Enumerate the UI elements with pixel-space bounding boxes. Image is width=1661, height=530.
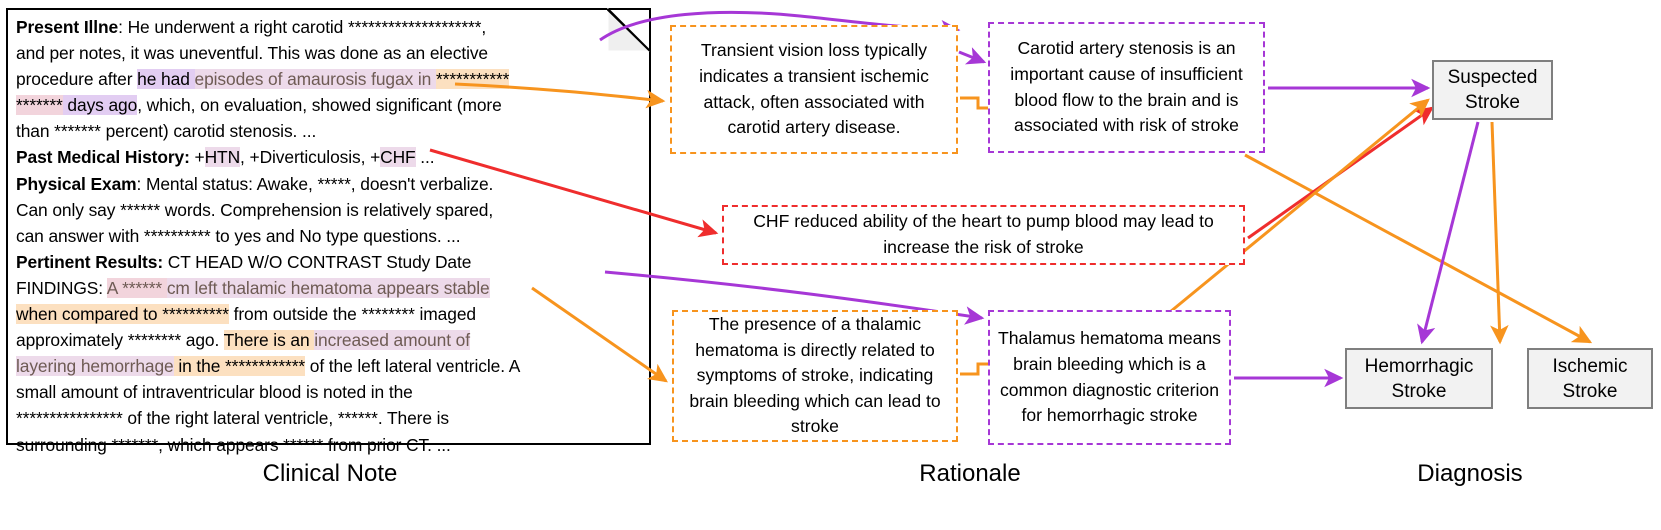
note-highlight-span: layering hemorrhage xyxy=(16,356,174,376)
rationale-text: CHF reduced ability of the heart to pump… xyxy=(732,209,1235,260)
rationale-text: Carotid artery stenosis is an important … xyxy=(998,36,1255,138)
note-text-span: CT HEAD W/O CONTRAST Study Date xyxy=(163,252,471,272)
clinical-note-line: when compared to ********** from outside… xyxy=(16,301,642,327)
arrow-suspected-to-ischemic xyxy=(1492,122,1500,342)
clinical-note-line: Present Illne: He underwent a right caro… xyxy=(16,14,642,40)
clinical-note-line: ******* days ago, which, on evaluation, … xyxy=(16,92,642,118)
note-text-span: surrounding *******, which appears *****… xyxy=(16,435,451,455)
rationale-text: Transient vision loss typically indicate… xyxy=(680,38,948,140)
arrow-chf-to-suspected xyxy=(1248,108,1432,238)
note-text-span: FINDINGS: xyxy=(16,278,107,298)
note-text-span: **************** of the right lateral ve… xyxy=(16,408,449,428)
note-highlight-span: in the ************ xyxy=(174,356,305,376)
clinical-note-line: Pertinent Results: CT HEAD W/O CONTRAST … xyxy=(16,249,642,275)
note-highlight-span: cm left thalamic hematoma appears stable xyxy=(167,278,490,298)
page-fold-icon xyxy=(607,8,651,52)
clinical-note-line: FINDINGS: A ****** cm left thalamic hema… xyxy=(16,275,642,301)
note-highlight-span: increased amount of xyxy=(314,330,470,350)
arrow-thalamic-to-thalamus xyxy=(960,364,988,374)
note-highlight-span: CHF xyxy=(380,147,415,167)
clinical-note-line: **************** of the right lateral ve… xyxy=(16,405,642,431)
rationale-text: Thalamus hematoma means brain bleeding w… xyxy=(998,326,1221,428)
note-text-span: : Mental status: Awake, *****, doesn't v… xyxy=(137,174,494,194)
note-highlight-span: *********** xyxy=(436,69,509,89)
clinical-note-card: Present Illne: He underwent a right caro… xyxy=(6,8,651,445)
diagnosis-label: Suspected Stroke xyxy=(1434,65,1551,115)
clinical-note-line: small amount of intraventricular blood i… xyxy=(16,379,642,405)
clinical-note-line: approximately ******** ago. There is an … xyxy=(16,327,642,353)
note-text-span: small amount of intraventricular blood i… xyxy=(16,382,413,402)
diagnosis-box-hemorrhagic-stroke[interactable]: Hemorrhagic Stroke xyxy=(1345,348,1493,409)
note-text-span: : He underwent a right carotid *********… xyxy=(118,17,486,37)
clinical-note-line: can answer with ********** to yes and No… xyxy=(16,223,642,249)
note-text-span: Can only say ****** words. Comprehension… xyxy=(16,200,493,220)
diagnosis-label: Ischemic Stroke xyxy=(1529,354,1651,404)
note-text-span: procedure after xyxy=(16,69,137,89)
note-highlight-span: he had xyxy=(137,69,194,89)
rationale-box-thalamus-hematoma[interactable]: Thalamus hematoma means brain bleeding w… xyxy=(988,310,1231,445)
rationale-text: The presence of a thalamic hematoma is d… xyxy=(682,312,948,440)
note-text-span: + xyxy=(190,147,205,167)
arrow-transient-to-carotid xyxy=(959,52,984,62)
note-text-span: Physical Exam xyxy=(16,174,137,194)
column-caption-rationale: Rationale xyxy=(790,460,1150,488)
note-text-span: of the left lateral ventricle. A xyxy=(305,356,520,376)
arrow-transient-to-carotid-orange xyxy=(960,98,988,108)
note-text-span: ... xyxy=(416,147,435,167)
note-highlight-span: when compared to ********** xyxy=(16,304,229,324)
column-caption-diagnosis: Diagnosis xyxy=(1290,460,1650,488)
note-text-span: from outside the ******** imaged xyxy=(229,304,476,324)
note-text-span: Past Medical History: xyxy=(16,147,190,167)
clinical-note-line: Can only say ****** words. Comprehension… xyxy=(16,197,642,223)
rationale-box-thalamic-hematoma[interactable]: The presence of a thalamic hematoma is d… xyxy=(672,310,958,442)
clinical-note-line: Past Medical History: +HTN, +Diverticulo… xyxy=(16,144,642,170)
note-highlight-span: A ****** xyxy=(107,278,167,298)
diagnosis-label: Hemorrhagic Stroke xyxy=(1347,354,1491,404)
note-highlight-span: days ago xyxy=(63,95,138,115)
note-text-span: than ******* percent) carotid stenosis. … xyxy=(16,121,316,141)
note-highlight-span: HTN xyxy=(205,147,240,167)
arrow-carotid-to-ischemic xyxy=(1245,155,1590,342)
note-highlight-span: ******* xyxy=(16,95,63,115)
clinical-note-line: procedure after he had episodes of amaur… xyxy=(16,66,642,92)
rationale-box-transient[interactable]: Transient vision loss typically indicate… xyxy=(670,25,958,154)
clinical-note-line: than ******* percent) carotid stenosis. … xyxy=(16,118,642,144)
diagnosis-box-ischemic-stroke[interactable]: Ischemic Stroke xyxy=(1527,348,1653,409)
note-text-span: , +Diverticulosis, + xyxy=(240,147,380,167)
note-text-span: can answer with ********** to yes and No… xyxy=(16,226,460,246)
note-text-span: , which, on evaluation, showed significa… xyxy=(137,95,501,115)
note-highlight-span: There is an xyxy=(224,330,315,350)
diagnosis-box-suspected-stroke[interactable]: Suspected Stroke xyxy=(1432,60,1553,120)
column-caption-clinical-note: Clinical Note xyxy=(150,460,510,488)
note-text-span: Pertinent Results: xyxy=(16,252,163,272)
figure-canvas: Present Illne: He underwent a right caro… xyxy=(0,0,1661,530)
clinical-note-text: Present Illne: He underwent a right caro… xyxy=(16,14,642,458)
clinical-note-line: Physical Exam: Mental status: Awake, ***… xyxy=(16,171,642,197)
clinical-note-line: surrounding *******, which appears *****… xyxy=(16,432,642,458)
note-highlight-span: episodes of amaurosis fugax in xyxy=(195,69,436,89)
rationale-box-carotid[interactable]: Carotid artery stenosis is an important … xyxy=(988,22,1265,153)
clinical-note-line: and per notes, it was uneventful. This w… xyxy=(16,40,642,66)
note-text-span: and per notes, it was uneventful. This w… xyxy=(16,43,488,63)
rationale-box-chf[interactable]: CHF reduced ability of the heart to pump… xyxy=(722,205,1245,265)
note-text-span: approximately ******** ago. xyxy=(16,330,224,350)
arrow-suspected-to-hemorrhagic xyxy=(1422,122,1478,342)
note-text-span: Present Illne xyxy=(16,17,118,37)
clinical-note-line: layering hemorrhage in the ************ … xyxy=(16,353,642,379)
